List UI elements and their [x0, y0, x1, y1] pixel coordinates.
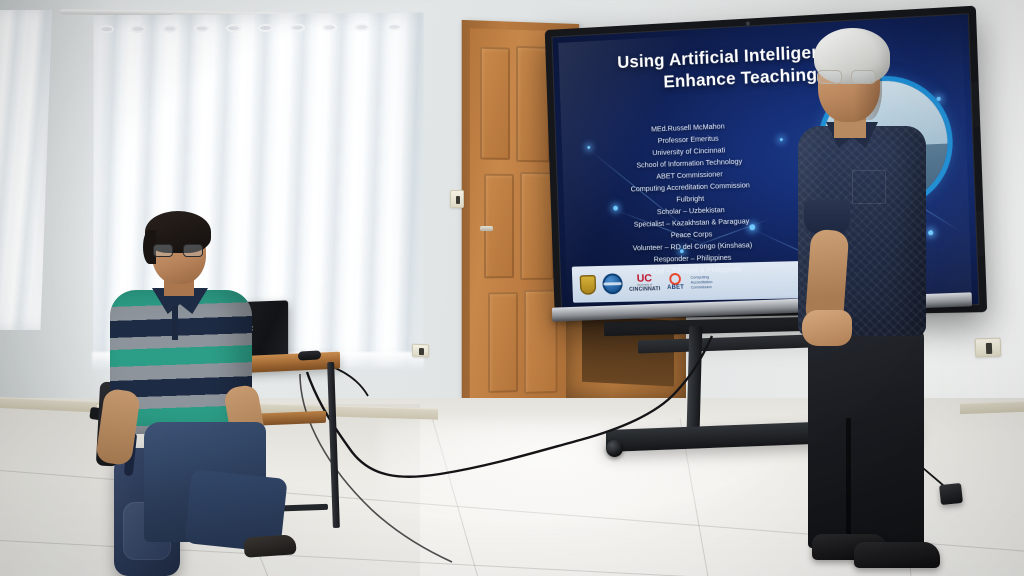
cart-caster — [606, 440, 623, 457]
presenter-eyeglasses — [817, 70, 879, 84]
operator-shoe — [243, 534, 296, 558]
presenter-shoe-right — [854, 542, 940, 568]
eyeglass-lens — [817, 70, 842, 84]
door-panel — [480, 47, 510, 160]
curtain-grommet — [387, 23, 402, 31]
curtain-grommet — [290, 24, 305, 32]
camera-on-floor[interactable] — [939, 483, 963, 505]
outlet-slot — [456, 196, 460, 204]
eyeglass-lens — [851, 70, 876, 84]
door-panel — [488, 292, 518, 393]
display-camera-icon — [746, 21, 750, 25]
wall-outlet-left[interactable] — [412, 344, 429, 358]
seated-laptop-operator — [96, 206, 306, 536]
curtain-grommet — [99, 25, 114, 33]
curtain-grommet — [226, 24, 241, 32]
operator-placket — [172, 306, 178, 340]
operator-eyeglasses — [153, 244, 205, 257]
eyeglass-lens — [153, 244, 173, 257]
curtain-grommet — [354, 23, 369, 31]
curtain-grommet — [322, 23, 337, 31]
presenter-shirt-pocket — [852, 170, 886, 204]
presenter-clasped-hands — [802, 310, 852, 346]
presenter-trousers — [808, 324, 924, 548]
cart-leg — [687, 326, 703, 430]
door-handle[interactable] — [480, 226, 493, 231]
outlet-slot — [986, 343, 992, 354]
presenter-trouser-seam — [846, 418, 851, 548]
wall-plate-door-side[interactable] — [450, 190, 464, 208]
door-panel — [524, 290, 558, 394]
curtain-grommet — [194, 24, 209, 32]
door-panel — [516, 46, 550, 162]
curtain-grommet — [258, 24, 273, 32]
curtain-grommet — [163, 25, 178, 33]
door-panel — [520, 172, 554, 280]
curtain-grommet — [131, 25, 146, 33]
classroom-photo-scene: Using Artificial Intelligence to Enhance… — [0, 0, 1024, 576]
outlet-slot — [419, 348, 424, 355]
eyeglass-lens — [183, 244, 203, 257]
